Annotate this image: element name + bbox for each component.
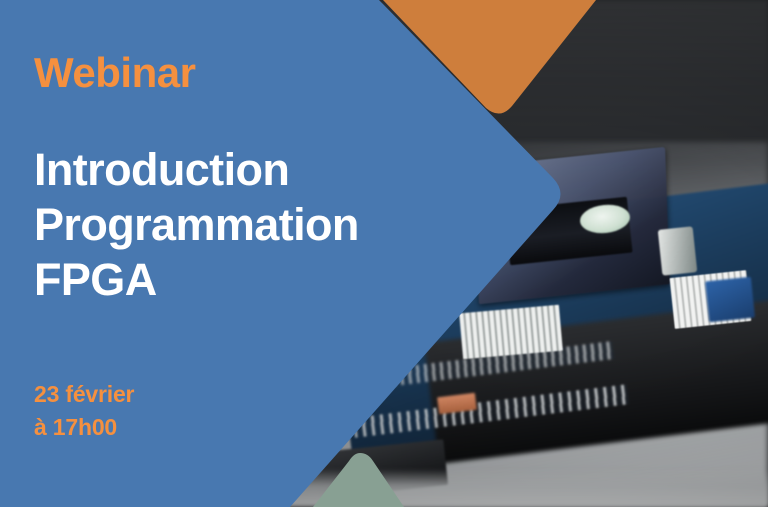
headline-line-1: Introduction [34,143,359,198]
text-block: Webinar Introduction Programmation FPGA … [0,0,420,507]
event-datetime: 23 février à 17h00 [34,378,134,443]
event-time: à 17h00 [34,411,134,444]
headline-line-2: Programmation [34,198,359,253]
event-date: 23 février [34,378,134,411]
headline-line-3: FPGA [34,253,359,308]
kicker-webinar: Webinar [34,52,195,94]
webinar-banner: Webinar Introduction Programmation FPGA … [0,0,768,507]
headline: Introduction Programmation FPGA [34,143,359,308]
